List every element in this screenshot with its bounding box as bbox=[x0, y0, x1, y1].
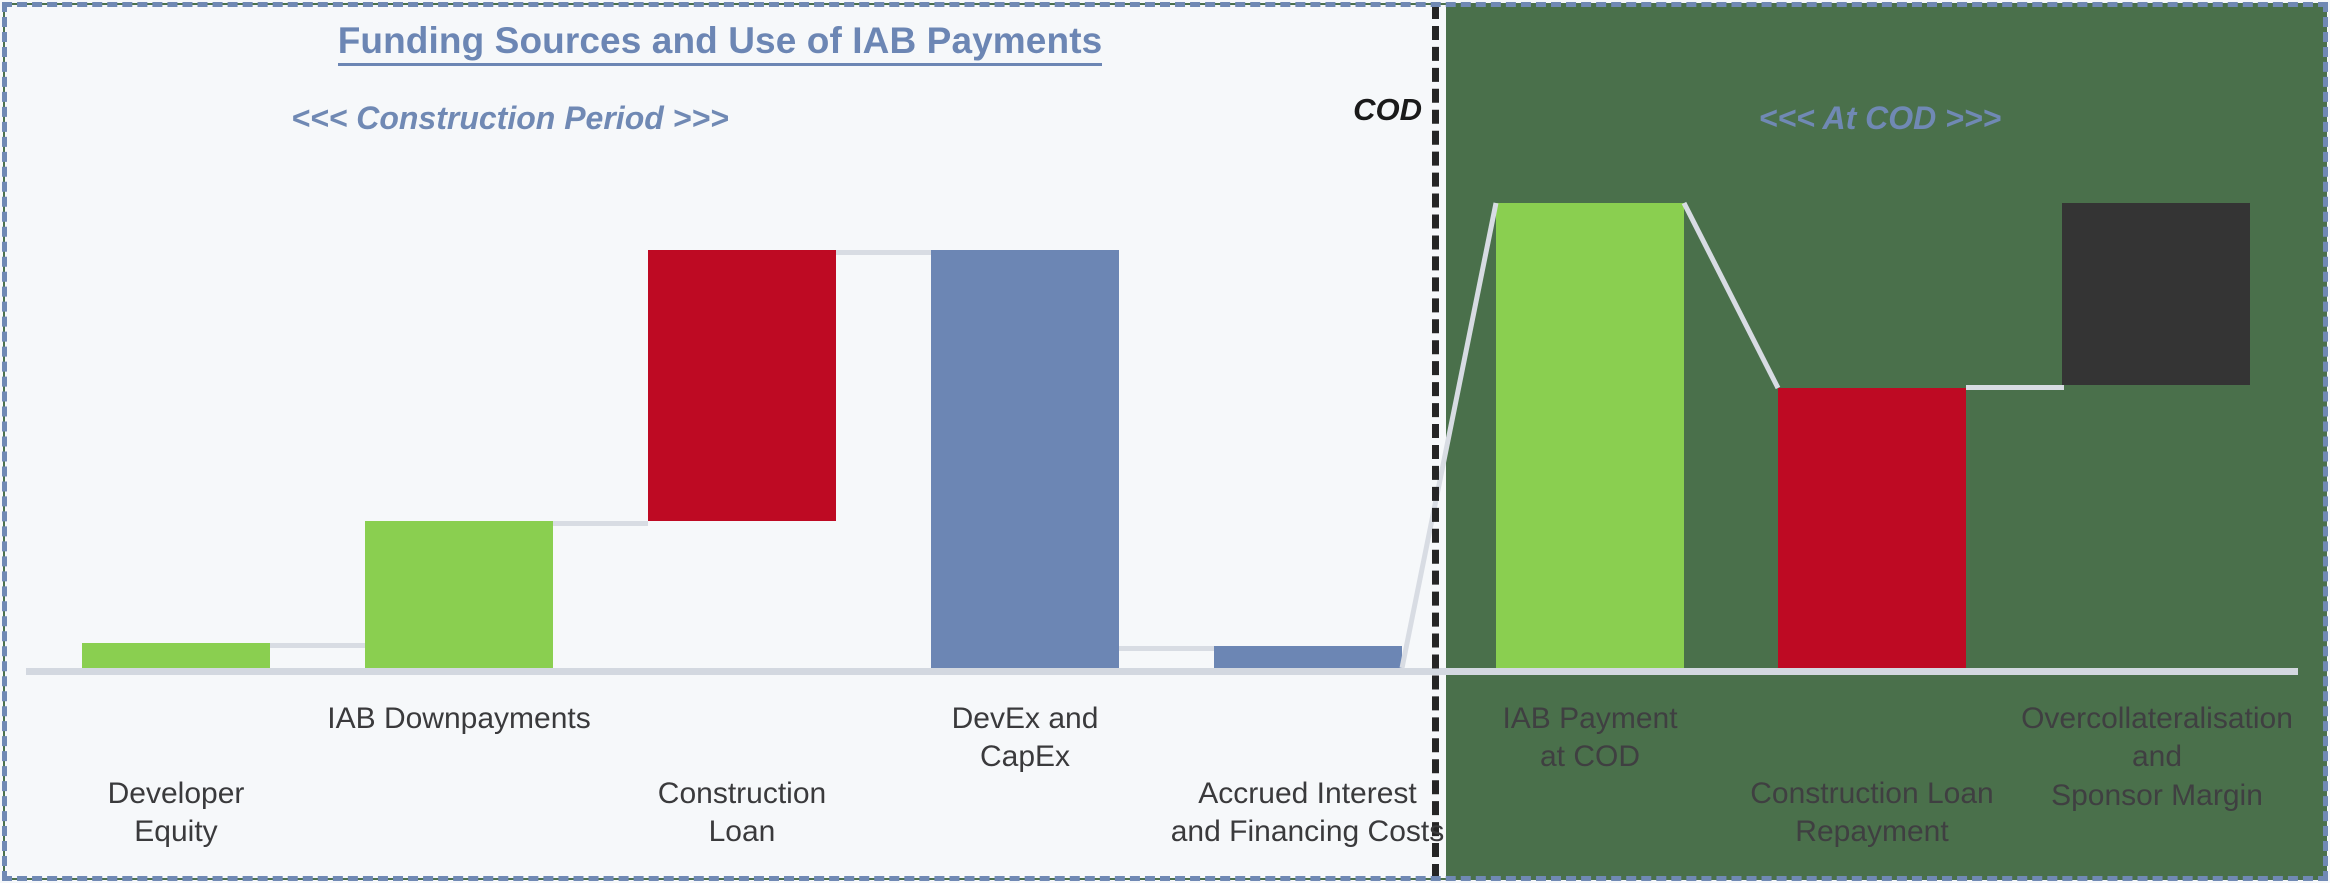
bar-developer-equity[interactable] bbox=[82, 643, 270, 668]
connector-loan-to-devex bbox=[836, 250, 931, 255]
page-title-text: Funding Sources and Use of IAB Payments bbox=[338, 20, 1103, 66]
cod-marker-label: COD bbox=[1300, 92, 1422, 128]
at-cod-caption: <<< At COD >>> bbox=[1500, 100, 2260, 137]
connector-devex-to-accrued bbox=[1119, 646, 1214, 651]
bar-accrued-interest[interactable] bbox=[1214, 646, 1402, 668]
axis-baseline bbox=[26, 668, 2298, 675]
bar-iab-downpayments[interactable] bbox=[365, 521, 553, 668]
connector-repayment-to-margin bbox=[1966, 385, 2064, 390]
label-construction-loan-repayment: Construction Loan Repayment bbox=[1722, 775, 2022, 852]
cod-divider-line bbox=[1432, 5, 1439, 878]
waterfall-chart-canvas: Funding Sources and Use of IAB Payments … bbox=[0, 0, 2330, 883]
bar-construction-loan-repayment[interactable] bbox=[1778, 388, 1966, 668]
label-devex-capex: DevEx and CapEx bbox=[875, 700, 1175, 777]
bar-construction-loan[interactable] bbox=[648, 250, 836, 521]
label-accrued-interest: Accrued Interest and Financing Costs bbox=[1130, 775, 1485, 852]
bar-iab-payment-at-cod[interactable] bbox=[1496, 203, 1684, 668]
bar-overcollateralisation-margin[interactable] bbox=[2062, 203, 2250, 385]
page-title: Funding Sources and Use of IAB Payments bbox=[0, 20, 1440, 62]
label-iab-downpayments: IAB Downpayments bbox=[305, 700, 613, 738]
label-construction-loan: Construction Loan bbox=[592, 775, 892, 852]
construction-period-caption: <<< Construction Period >>> bbox=[180, 100, 840, 137]
label-developer-equity: Developer Equity bbox=[26, 775, 326, 852]
connector-developer-to-iab bbox=[270, 643, 365, 648]
label-iab-payment-at-cod: IAB Payment at COD bbox=[1440, 700, 1740, 777]
label-overcollateralisation-margin: Overcollateralisation and Sponsor Margin bbox=[1998, 700, 2316, 815]
connector-iab-to-construction-loan bbox=[553, 521, 648, 526]
bar-devex-capex[interactable] bbox=[931, 250, 1119, 668]
